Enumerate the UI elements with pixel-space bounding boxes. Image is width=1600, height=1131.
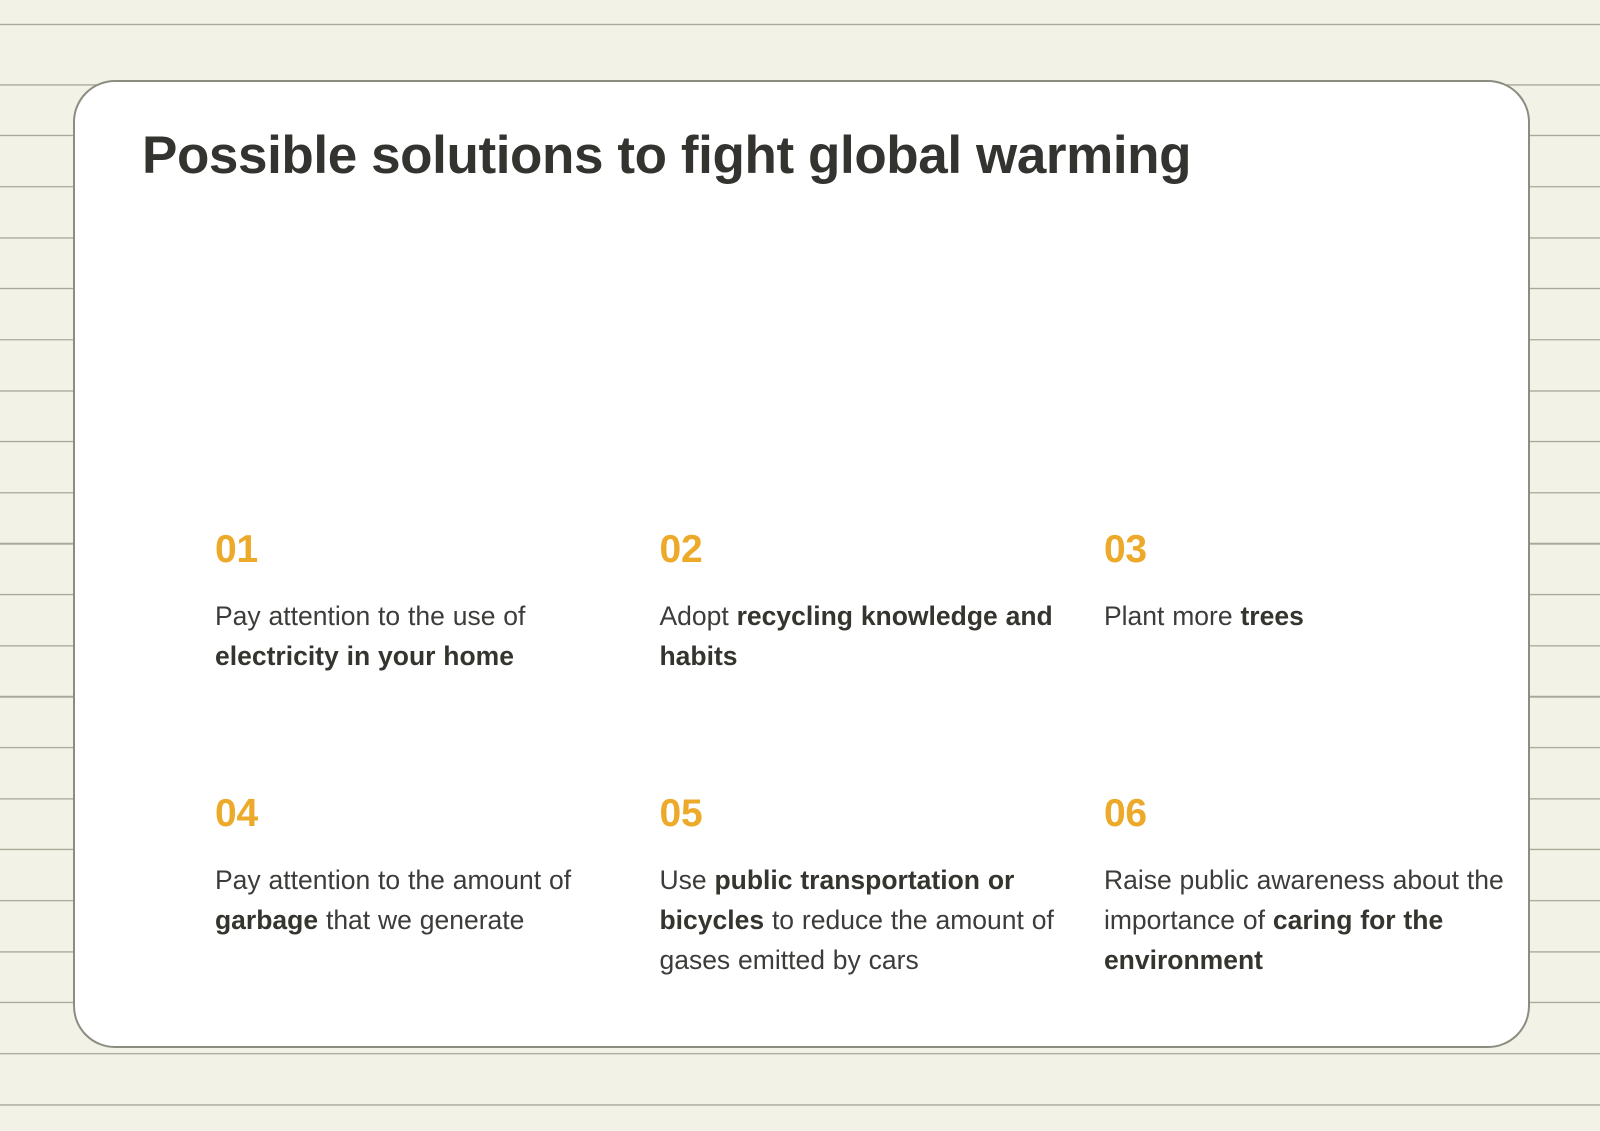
solution-text-04: Pay attention to the amount of garbage t… [215, 860, 614, 940]
solution-item-01: 01 Pay attention to the use of electrici… [215, 530, 659, 794]
solutions-card: Possible solutions to fight global warmi… [73, 80, 1530, 1048]
solution-item-05: 05 Use public transportation or bicycles… [659, 794, 1103, 980]
solutions-row-1: 01 Pay attention to the use of electrici… [215, 530, 1545, 794]
solution-text-06: Raise public awareness about the importa… [1104, 860, 1545, 980]
solution-number-05: 05 [659, 794, 1058, 833]
solutions-grid: 01 Pay attention to the use of electrici… [215, 530, 1545, 980]
solution-number-03: 03 [1104, 530, 1545, 569]
solutions-row-2: 04 Pay attention to the amount of garbag… [215, 794, 1545, 980]
solution-number-04: 04 [215, 794, 614, 833]
solution-text-03: Plant more trees [1104, 596, 1545, 636]
solution-item-02: 02 Adopt recycling knowledge and habits [659, 530, 1103, 794]
page-root: Possible solutions to fight global warmi… [0, 0, 1600, 1131]
solution-text-02: Adopt recycling knowledge and habits [659, 596, 1058, 676]
solution-number-02: 02 [659, 530, 1058, 569]
solution-text-01: Pay attention to the use of electricity … [215, 596, 614, 676]
solution-number-01: 01 [215, 530, 614, 569]
solution-text-05: Use public transportation or bicycles to… [659, 860, 1058, 980]
page-title: Possible solutions to fight global warmi… [142, 126, 1478, 187]
card-content: Possible solutions to fight global warmi… [142, 126, 1478, 187]
solution-item-03: 03 Plant more trees [1104, 530, 1545, 794]
solution-number-06: 06 [1104, 794, 1545, 833]
solution-item-06: 06 Raise public awareness about the impo… [1104, 794, 1545, 980]
solution-item-04: 04 Pay attention to the amount of garbag… [215, 794, 659, 980]
